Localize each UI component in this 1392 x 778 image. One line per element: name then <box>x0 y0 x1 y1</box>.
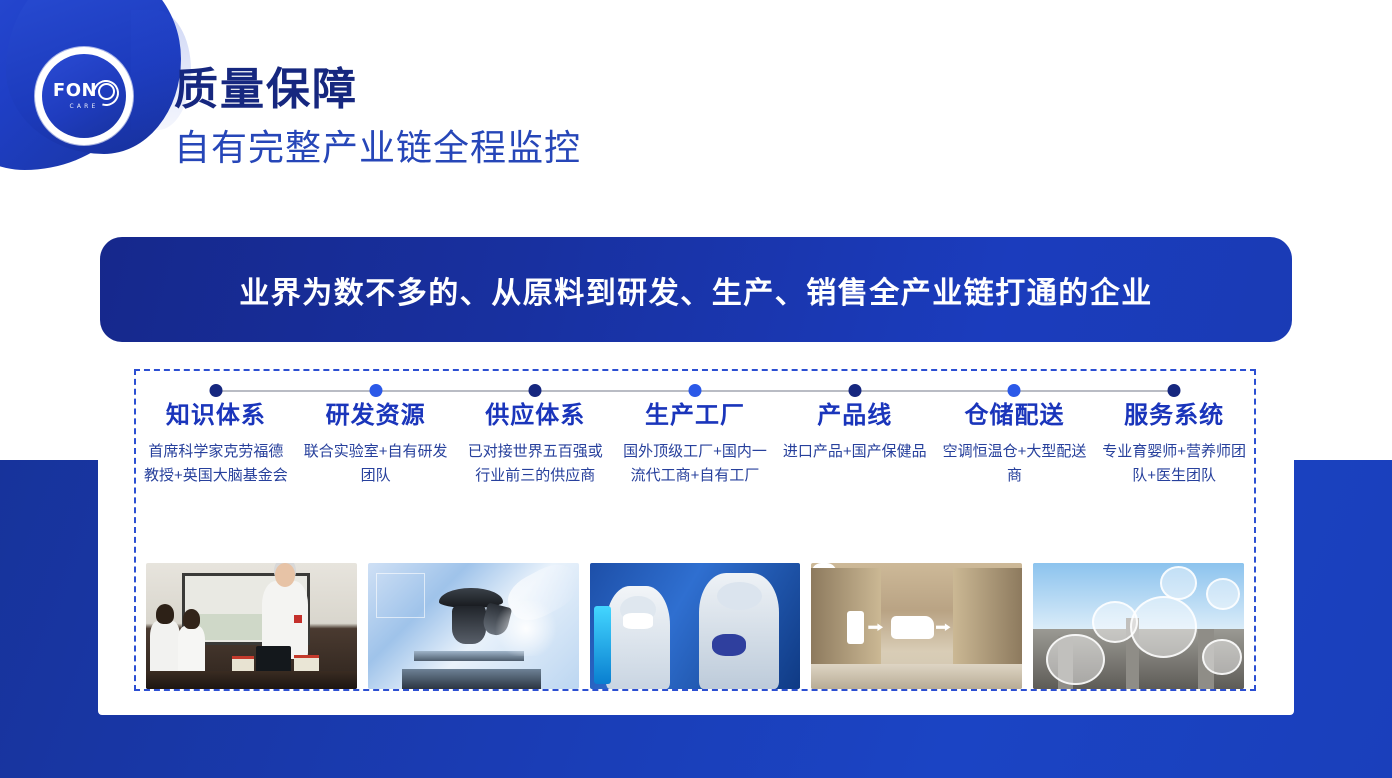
photo-network <box>1033 563 1244 689</box>
highlight-banner: 业界为数不多的、从原料到研发、生产、销售全产业链打通的企业 <box>100 237 1292 342</box>
chain-column-title: 知识体系 <box>142 395 290 430</box>
photo-warehouse-rack-left <box>811 568 881 666</box>
photo-lecture-table <box>146 671 357 689</box>
photo-network-bubble-5 <box>1206 578 1240 610</box>
chain-column: 仓储配送空调恒温仓+大型配送商 <box>935 395 1095 489</box>
chain-column: 供应体系已对接世界五百强或行业前三的供应商 <box>455 395 615 489</box>
photo-microscope-lens-1 <box>452 606 486 644</box>
photo-strip <box>146 563 1244 689</box>
photo-warehouse-rack-right <box>953 568 1023 666</box>
chain-column: 生产工厂国外顶级工厂+国内一流代工商+自有工厂 <box>615 395 775 489</box>
chain-column: 知识体系首席科学家克劳福德教授+英国大脑基金会 <box>136 395 296 489</box>
chain-column-desc: 进口产品+国产保健品 <box>781 440 929 464</box>
photo-warehouse-phone-icon <box>847 611 864 644</box>
photo-network-bubble-1 <box>1046 634 1105 686</box>
photo-microscope-overlay <box>376 573 424 618</box>
photo-lecture-student-1 <box>150 621 180 679</box>
photo-warehouse-arrow-2-icon <box>936 623 951 631</box>
logo-tagline: CARE <box>69 103 98 110</box>
chain-column-desc: 联合实验室+自有研发团队 <box>302 440 450 489</box>
chain-column-desc: 首席科学家克劳福德教授+英国大脑基金会 <box>142 440 290 489</box>
chain-column: 研发资源联合实验室+自有研发团队 <box>296 395 456 489</box>
photo-microscope-glow <box>490 601 562 656</box>
photo-warehouse-truck-icon <box>891 616 933 639</box>
brand-logo: FON CARE <box>35 47 133 145</box>
photo-cleanroom-worker-1 <box>606 586 669 689</box>
chain-column-title: 服务系统 <box>1100 395 1248 430</box>
logo-wordmark-text: FON <box>53 82 97 100</box>
chain-column-title: 研发资源 <box>302 395 450 430</box>
chain-column-title: 供应体系 <box>461 395 609 430</box>
photo-lecture <box>146 563 357 689</box>
photo-warehouse-floor <box>811 664 1022 689</box>
photo-cleanroom <box>590 563 801 689</box>
page-title: 质量保障 <box>174 66 581 114</box>
photo-microscope <box>368 563 579 689</box>
photo-network-bubble-3 <box>1130 596 1197 658</box>
photo-cleanroom-tube <box>594 606 611 684</box>
photo-lecture-laptop <box>256 646 292 674</box>
chain-column-desc: 空调恒温仓+大型配送商 <box>941 440 1089 489</box>
page-subtitle: 自有完整产业链全程监控 <box>174 128 581 168</box>
photo-microscope-base <box>402 669 541 689</box>
chain-column-title: 仓储配送 <box>941 395 1089 430</box>
chain-column: 产品线进口产品+国产保健品 <box>775 395 935 489</box>
chain-column: 服务系统专业育婴师+营养师团队+医生团队 <box>1094 395 1254 489</box>
highlight-banner-text: 业界为数不多的、从原料到研发、生产、销售全产业链打通的企业 <box>239 268 1153 312</box>
chain-column-title: 产品线 <box>781 395 929 430</box>
chain-column-desc: 国外顶级工厂+国内一流代工商+自有工厂 <box>621 440 769 489</box>
chain-column-title: 生产工厂 <box>621 395 769 430</box>
photo-cleanroom-mask <box>623 613 653 628</box>
chain-columns: 知识体系首席科学家克劳福德教授+英国大脑基金会研发资源联合实验室+自有研发团队供… <box>136 395 1254 489</box>
slide-stage: FON CARE 质量保障 自有完整产业链全程监控 业界为数不多的、从原料到研发… <box>0 0 1392 778</box>
value-chain-panel: 知识体系首席科学家克劳福德教授+英国大脑基金会研发资源联合实验室+自有研发团队供… <box>134 369 1256 691</box>
photo-network-bubble-4 <box>1160 566 1198 600</box>
photo-warehouse <box>811 563 1022 689</box>
photo-cleanroom-worker-2 <box>699 573 779 689</box>
photo-lecture-badge <box>294 615 301 623</box>
photo-network-bubble-6 <box>1202 639 1242 676</box>
content-card: 业界为数不多的、从原料到研发、生产、销售全产业链打通的企业 知识体系首席科学家克… <box>98 215 1294 715</box>
chain-column-desc: 专业育婴师+营养师团队+医生团队 <box>1100 440 1248 489</box>
chain-column-desc: 已对接世界五百强或行业前三的供应商 <box>461 440 609 489</box>
logo-disc: FON CARE <box>42 54 126 138</box>
photo-cleanroom-glove <box>712 634 746 657</box>
page-header: 质量保障 自有完整产业链全程监控 <box>174 66 581 168</box>
